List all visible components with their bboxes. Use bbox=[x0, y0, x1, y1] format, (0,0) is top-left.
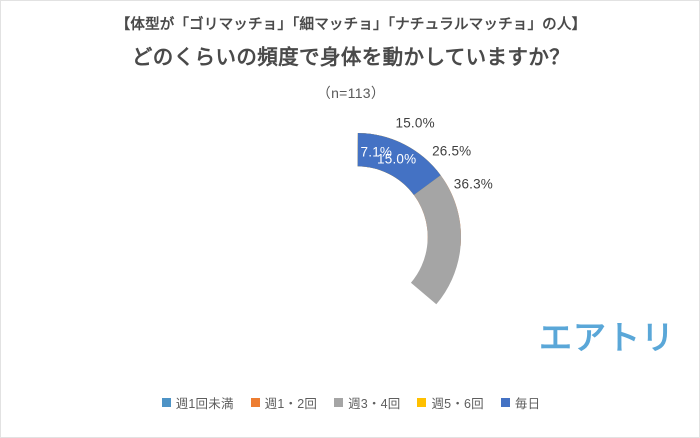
legend-item[interactable]: 週1・2回 bbox=[251, 393, 317, 412]
legend-swatch-icon bbox=[251, 398, 260, 407]
legend-item[interactable]: 週3・4回 bbox=[334, 393, 400, 412]
legend-item-label: 週5・6回 bbox=[431, 393, 483, 412]
chart-header: 【体型が「ゴリマッチョ」「細マッチョ」「ナチュラルマッチョ」の人】 どのくらいの… bbox=[1, 1, 700, 103]
legend-swatch-icon bbox=[334, 398, 343, 407]
slice-value-label: 36.3% bbox=[454, 176, 493, 191]
legend-item-label: 週1・2回 bbox=[265, 393, 317, 412]
chart-page: 【体型が「ゴリマッチョ」「細マッチョ」「ナチュラルマッチョ」の人】 どのくらいの… bbox=[0, 0, 700, 438]
slice-value-label: 15.0% bbox=[396, 115, 435, 130]
page-title: どのくらいの頻度で身体を動かしていますか？ bbox=[1, 44, 700, 72]
chart-legend: 週1回未満週1・2回週3・4回週5・6回毎日 bbox=[1, 393, 700, 412]
legend-item[interactable]: 週1回未満 bbox=[162, 393, 234, 412]
legend-item[interactable]: 週5・6回 bbox=[417, 393, 483, 412]
legend-item-label: 週1回未満 bbox=[176, 393, 234, 412]
sample-size-annotation: （n=113） bbox=[1, 83, 700, 103]
legend-item[interactable]: 毎日 bbox=[501, 393, 540, 412]
donut-chart: 7.1%26.5%36.3%15.0%15.0% bbox=[251, 131, 463, 343]
legend-swatch-icon bbox=[417, 398, 426, 407]
slice-value-label: 26.5% bbox=[432, 143, 471, 158]
legend-swatch-icon bbox=[501, 398, 510, 407]
chart-subtitle: 【体型が「ゴリマッチョ」「細マッチョ」「ナチュラルマッチョ」の人】 bbox=[1, 15, 700, 35]
chart-plot-area: 7.1%26.5%36.3%15.0%15.0% エアトリ bbox=[1, 123, 700, 385]
legend-item-label: 毎日 bbox=[515, 393, 540, 412]
donut-svg bbox=[251, 131, 463, 343]
slice-value-label: 15.0% bbox=[377, 152, 416, 167]
legend-swatch-icon bbox=[162, 398, 171, 407]
legend-item-label: 週3・4回 bbox=[348, 393, 400, 412]
brand-logo: エアトリ bbox=[539, 321, 675, 354]
